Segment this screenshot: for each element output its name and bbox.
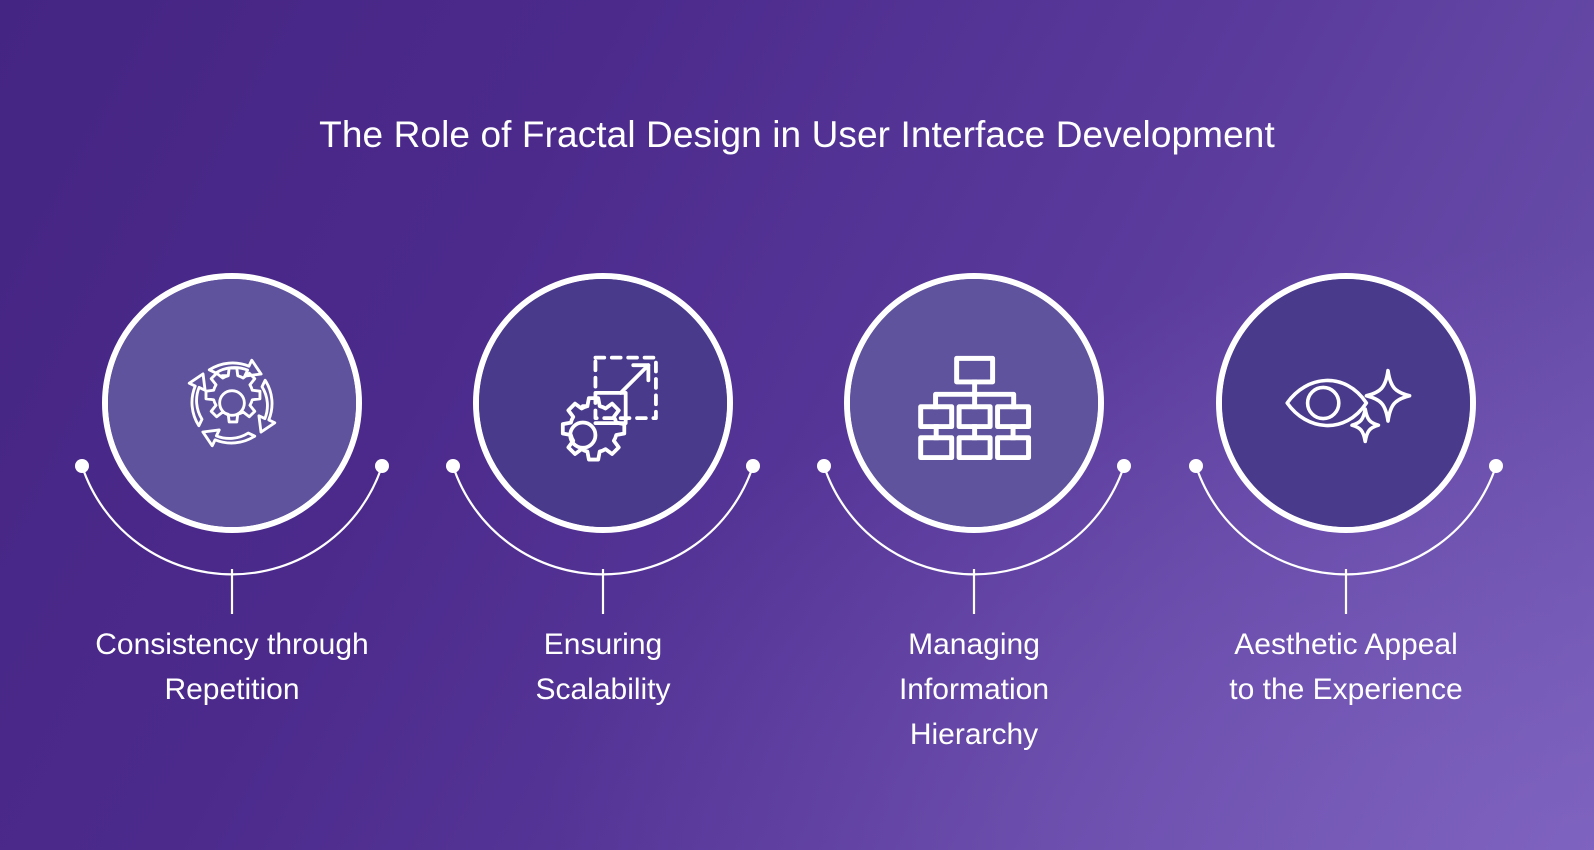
hierarchy-tree-icon xyxy=(844,273,1104,533)
node-scalability[interactable] xyxy=(473,273,733,533)
gear-scale-arrow-icon xyxy=(473,273,733,533)
node-label: Aesthetic Appeal to the Experience xyxy=(1156,622,1536,712)
node-hierarchy[interactable] xyxy=(844,273,1104,533)
eye-sparkle-icon xyxy=(1216,273,1476,533)
gear-cycle-arrows-icon xyxy=(102,273,362,533)
node-consistency[interactable] xyxy=(102,273,362,533)
node-label: Consistency through Repetition xyxy=(42,622,422,712)
infographic-canvas: The Role of Fractal Design in User Inter… xyxy=(0,0,1594,850)
node-aesthetic[interactable] xyxy=(1216,273,1476,533)
node-label: Ensuring Scalability xyxy=(413,622,793,712)
node-label: Managing Information Hierarchy xyxy=(784,622,1164,757)
